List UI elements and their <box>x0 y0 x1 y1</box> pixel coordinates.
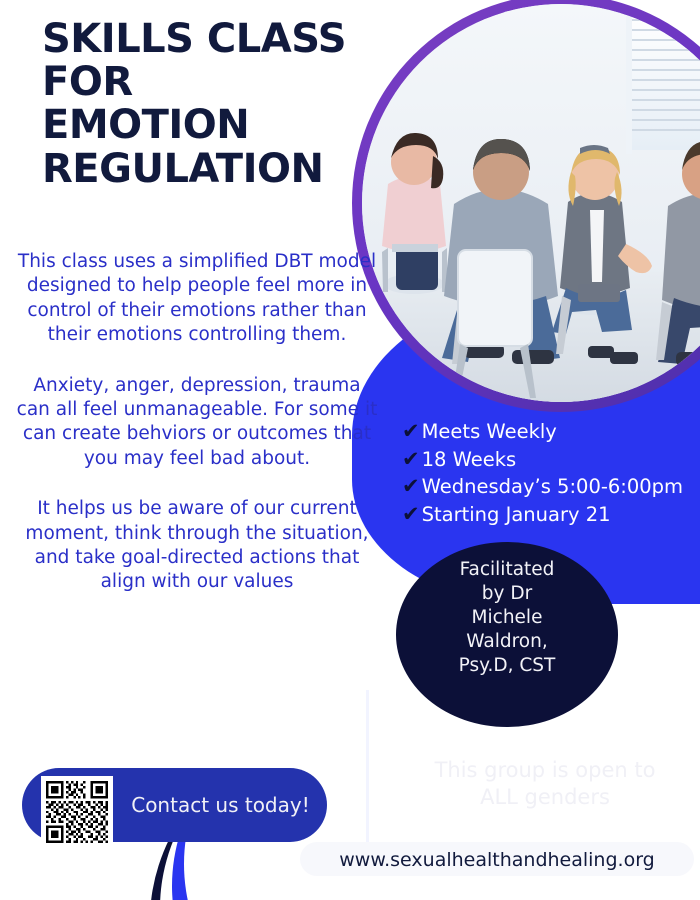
page-title: SKILLS CLASS FOR EMOTION REGULATION <box>42 18 372 191</box>
open-to-all-text: This group is open to ALL genders <box>400 757 690 812</box>
paragraph-3: It helps us be aware of our current mome… <box>14 497 380 595</box>
open-to-all-line-2: ALL genders <box>400 784 690 811</box>
qr-code-icon[interactable] <box>41 776 113 848</box>
website-url[interactable]: www.sexualhealthandhealing.org <box>300 849 694 871</box>
check-icon: ✔ <box>402 504 420 525</box>
checklist-item-label: Starting January 21 <box>422 501 611 529</box>
checklist-item-label: Wednesday’s 5:00-6:00pm <box>422 473 683 501</box>
body-copy: This class uses a simplified DBT model d… <box>14 250 380 595</box>
checklist-item: ✔ Starting January 21 <box>402 501 700 529</box>
facilitator-line-5: Psy.D, CST <box>396 654 618 678</box>
flyer-poster: SKILLS CLASS FOR EMOTION REGULATION This… <box>0 0 700 900</box>
group-therapy-illustration <box>362 4 700 402</box>
checklist-item-label: 18 Weeks <box>422 446 517 474</box>
title-line-4: REGULATION <box>42 148 372 191</box>
facilitator-text: Facilitated by Dr Michele Waldron, Psy.D… <box>396 558 618 678</box>
checklist-item: ✔ 18 Weeks <box>402 446 700 474</box>
check-icon: ✔ <box>402 476 420 497</box>
title-line-1: SKILLS CLASS <box>42 18 372 61</box>
title-line-2: FOR <box>42 61 372 104</box>
contact-label[interactable]: Contact us today! <box>128 793 313 817</box>
facilitator-line-1: Facilitated <box>396 558 618 582</box>
check-icon: ✔ <box>402 449 420 470</box>
facilitator-line-2: by Dr <box>396 582 618 606</box>
title-line-3: EMOTION <box>42 104 372 147</box>
open-to-all-line-1: This group is open to <box>400 757 690 784</box>
check-icon: ✔ <box>402 421 420 442</box>
facilitator-line-4: Waldron, <box>396 630 618 654</box>
qr-code-svg <box>41 776 113 848</box>
schedule-checklist: ✔ Meets Weekly ✔ 18 Weeks ✔ Wednesday’s … <box>402 418 700 529</box>
checklist-item-label: Meets Weekly <box>422 418 557 446</box>
facilitator-line-3: Michele <box>396 606 618 630</box>
checklist-item: ✔ Meets Weekly <box>402 418 700 446</box>
paragraph-2: Anxiety, anger, depression, trauma can a… <box>14 374 380 472</box>
checklist-item: ✔ Wednesday’s 5:00-6:00pm <box>402 473 700 501</box>
paragraph-1: This class uses a simplified DBT model d… <box>14 250 380 348</box>
group-therapy-photo <box>362 4 700 402</box>
